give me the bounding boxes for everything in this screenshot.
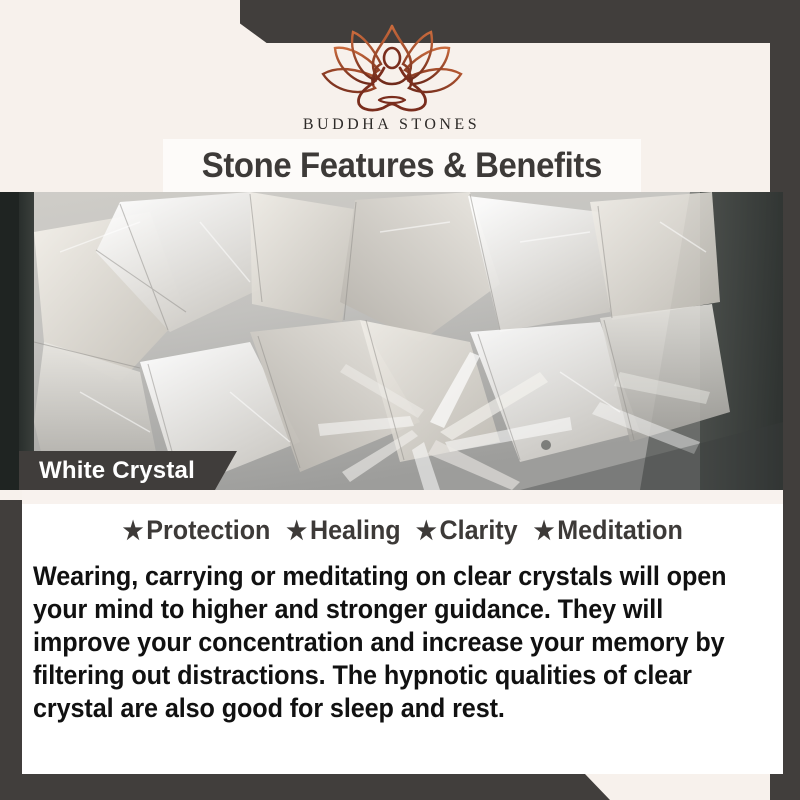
frame-bottom-dark-bar — [0, 774, 610, 800]
panel-top-tint — [22, 490, 783, 504]
page-title-box: Stone Features & Benefits — [163, 139, 641, 193]
benefits-row: ★Protection ★Healing ★Clarity ★Meditatio… — [22, 515, 783, 546]
lotus-meditation-icon — [317, 22, 467, 114]
star-icon: ★ — [122, 517, 143, 545]
frame-left-dark-strip — [0, 500, 22, 800]
benefit-item-protection: ★Protection — [122, 515, 270, 546]
star-icon: ★ — [416, 517, 437, 545]
benefit-label: Meditation — [557, 515, 683, 545]
content-panel: ★Protection ★Healing ★Clarity ★Meditatio… — [22, 490, 783, 774]
benefit-label: Protection — [146, 515, 270, 545]
header: BUDDHA STONES Stone Features & Benefits — [0, 0, 783, 193]
benefit-label: Healing — [310, 515, 401, 545]
page-title: Stone Features & Benefits — [202, 146, 602, 186]
stone-name-badge: White Crystal — [19, 451, 237, 490]
benefit-label: Clarity — [439, 515, 517, 545]
benefit-item-meditation: ★Meditation — [533, 515, 682, 546]
brand-logo: BUDDHA STONES — [0, 22, 783, 134]
benefit-item-healing: ★Healing — [287, 515, 401, 546]
photo-left-dark-edge — [0, 192, 19, 490]
star-icon: ★ — [287, 517, 308, 545]
stone-name-label: White Crystal — [39, 457, 195, 485]
brand-name: BUDDHA STONES — [0, 116, 783, 134]
description-text: Wearing, carrying or meditating on clear… — [33, 560, 730, 725]
benefit-item-clarity: ★Clarity — [416, 515, 518, 546]
crystal-photo: White Crystal — [0, 192, 783, 490]
star-icon: ★ — [533, 517, 554, 545]
crystal-photo-image — [0, 192, 783, 490]
poster-root: BUDDHA STONES Stone Features & Benefits — [0, 0, 800, 800]
